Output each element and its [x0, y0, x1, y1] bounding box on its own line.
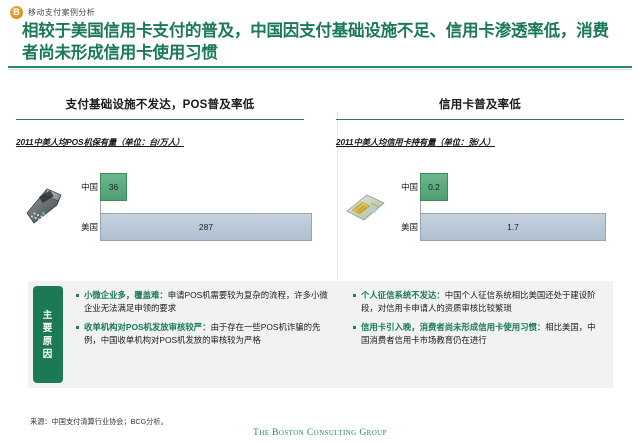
bar-row-usa-pos: 美国 287: [100, 213, 312, 241]
chart-plot-right: 中国 0.2 美国 1.7: [394, 173, 624, 241]
pos-terminal-icon: [16, 183, 74, 231]
content-columns: 支付基础设施不发达，POS普及率低 2011中美人均POS机保有量（单位：台/万…: [0, 96, 640, 252]
chart-subtitle-right: 2011中美人均信用卡持有量（单位：张/人）: [336, 136, 624, 148]
bar-usa-pos: 287: [100, 213, 312, 241]
column-pos-infrastructure: 支付基础设施不发达，POS普及率低 2011中美人均POS机保有量（单位：台/万…: [0, 96, 320, 252]
bullet-lead: 收单机构对POS机发放审核较严：: [84, 322, 211, 332]
bar-label-usa-pos: 美国: [74, 221, 98, 233]
slide-header: B 移动支付案例分析 相较于美国信用卡支付的普及，中国因支付基础设施不足、信用卡…: [0, 0, 640, 68]
bar-label-china-card: 中国: [394, 181, 418, 193]
column-rule-right: [336, 119, 624, 120]
chart-plot-left: 中国 36 美国 287: [74, 173, 312, 241]
bar-row-usa-card: 美国 1.7: [420, 213, 624, 241]
page-title: 相较于美国信用卡支付的普及，中国因支付基础设施不足、信用卡渗透率低，消费者尚未形…: [22, 20, 622, 64]
bullet-lead: 信用卡引入晚，消费者尚未形成信用卡使用习惯：: [361, 322, 545, 332]
bar-label-china-pos: 中国: [74, 181, 98, 193]
reasons-column-left: 小微企业多，覆盖难：申请POS机需要较为复杂的流程，许多小微企业无法满足申领的要…: [63, 289, 338, 388]
bar-label-usa-card: 美国: [394, 221, 418, 233]
chart-credit-cards: 中国 0.2 美国 1.7: [336, 168, 624, 246]
reasons-columns: 小微企业多，覆盖难：申请POS机需要较为复杂的流程，许多小微企业无法满足申领的要…: [63, 281, 613, 388]
credit-card-glyph: [341, 187, 389, 227]
title-divider: [8, 66, 632, 68]
breadcrumb: B 移动支付案例分析: [10, 5, 626, 19]
chart-subtitle-left: 2011中美人均POS机保有量（单位：台/万人）: [16, 136, 304, 148]
title-divider-shadow: [8, 69, 632, 70]
chart-pos-terminals: 中国 36 美国 287: [16, 168, 304, 246]
reasons-tag-text: 主要原因: [43, 309, 54, 361]
source-note: 来源：中国支付清算行业协会；BCG分析。: [30, 417, 168, 427]
reasons-column-right: 个人征信系统不发达：中国个人征信系统相比美国还处于建设阶段，对信用卡申请人的资质…: [338, 289, 613, 388]
bar-china-pos: 36: [100, 173, 127, 201]
list-item: 小微企业多，覆盖难：申请POS机需要较为复杂的流程，许多小微企业无法满足申领的要…: [75, 289, 328, 314]
credit-card-icon: [336, 187, 394, 227]
bullet-lead: 个人征信系统不发达：: [361, 290, 445, 300]
column-credit-card: 信用卡普及率低 2011中美人均信用卡持有量（单位：张/人）: [320, 96, 640, 252]
bar-row-china-pos: 中国 36: [100, 173, 312, 201]
column-heading-right: 信用卡普及率低: [336, 96, 624, 119]
pos-terminal-glyph: [21, 183, 69, 231]
bar-usa-card: 1.7: [420, 213, 606, 241]
section-badge-icon: B: [10, 6, 23, 19]
bar-china-card: 0.2: [420, 173, 448, 201]
list-item: 收单机构对POS机发放审核较严：由于存在一些POS机诈骗的先例，中国收单机构对P…: [75, 321, 328, 346]
bcg-logo: The Boston Consulting Group: [0, 428, 640, 438]
list-item: 个人征信系统不发达：中国个人征信系统相比美国还处于建设阶段，对信用卡申请人的资质…: [352, 289, 603, 314]
list-item: 信用卡引入晚，消费者尚未形成信用卡使用习惯：相比美国，中国消费者信用卡市场教育仍…: [352, 321, 603, 346]
section-label: 移动支付案例分析: [28, 7, 95, 18]
bullet-lead: 小微企业多，覆盖难：: [84, 290, 168, 300]
column-heading-left: 支付基础设施不发达，POS普及率低: [16, 96, 304, 119]
column-rule-left: [16, 119, 304, 120]
reasons-tag-label: 主要原因: [33, 286, 63, 383]
bar-row-china-card: 中国 0.2: [420, 173, 624, 201]
main-reasons-panel: 主要原因 小微企业多，覆盖难：申请POS机需要较为复杂的流程，许多小微企业无法满…: [28, 281, 613, 388]
